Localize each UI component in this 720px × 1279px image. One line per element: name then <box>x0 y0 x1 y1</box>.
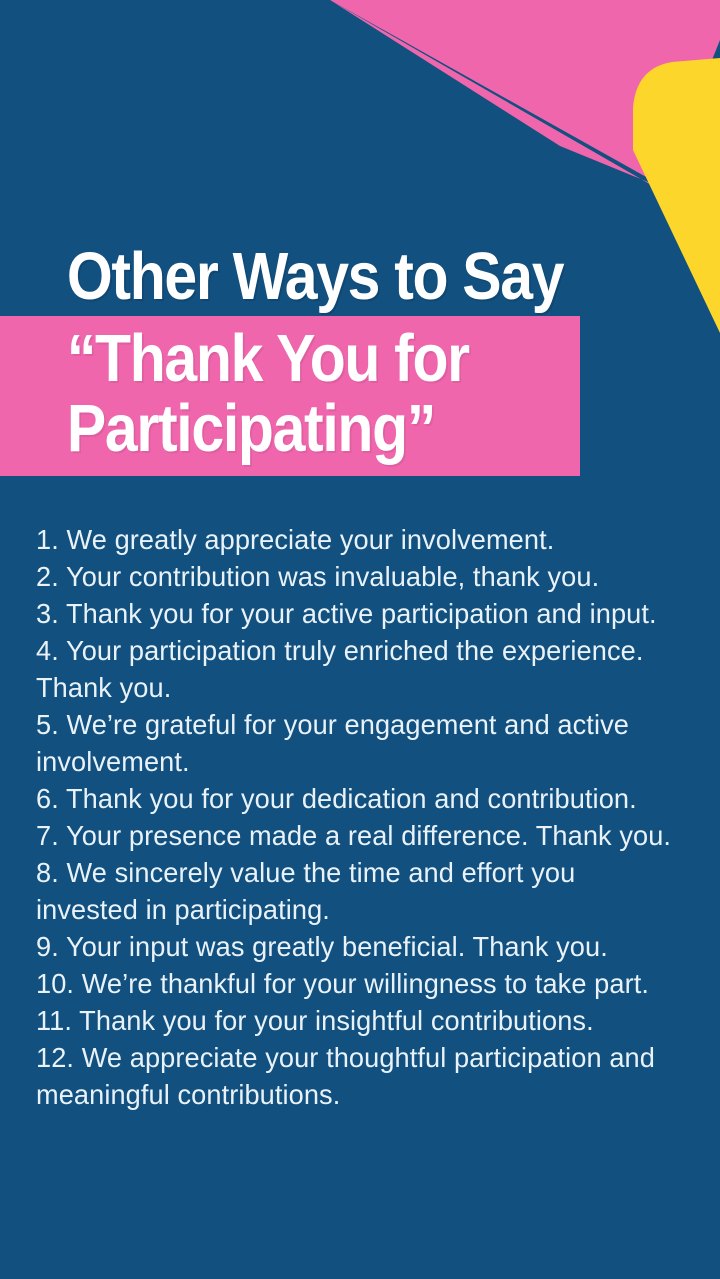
list-item: 8. We sincerely value the time and effor… <box>36 854 672 928</box>
list-item: 10. We’re thankful for your willingness … <box>36 965 672 1002</box>
list-item: 12. We appreciate your thoughtful partic… <box>36 1039 672 1113</box>
title-line-3: Participating” <box>0 394 510 464</box>
list-item: 1. We greatly appreciate your involvemen… <box>36 521 672 558</box>
list-item: 3. Thank you for your active participati… <box>36 595 672 632</box>
phrase-list: 1. We greatly appreciate your involvemen… <box>36 521 692 1113</box>
list-item: 2. Your contribution was invaluable, tha… <box>36 558 672 595</box>
list-item: 11. Thank you for your insightful contri… <box>36 1002 672 1039</box>
title-line-2: “Thank You for <box>0 324 510 394</box>
poster-canvas: Other Ways to Say “Thank You for Partici… <box>0 0 720 1279</box>
list-item: 6. Thank you for your dedication and con… <box>36 780 672 817</box>
title-highlight-band: “Thank You for Participating” <box>0 316 580 476</box>
title-line-1: Other Ways to Say <box>0 238 634 316</box>
list-item: 9. Your input was greatly beneficial. Th… <box>36 928 672 965</box>
page-title: Other Ways to Say “Thank You for Partici… <box>0 238 720 476</box>
list-item: 5. We’re grateful for your engagement an… <box>36 706 672 780</box>
list-item: 4. Your participation truly enriched the… <box>36 632 672 706</box>
list-item: 7. Your presence made a real difference.… <box>36 817 672 854</box>
